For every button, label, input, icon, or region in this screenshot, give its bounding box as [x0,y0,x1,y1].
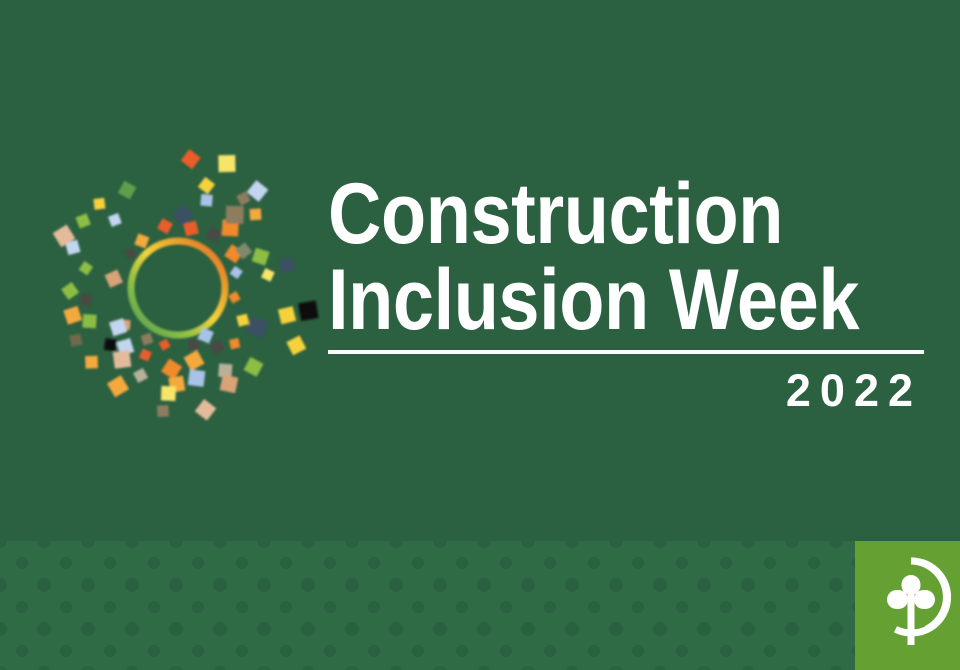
emblem-tile [184,350,205,371]
geometric-lattice-band [0,541,960,670]
emblem-tile [246,316,269,339]
emblem-tile [195,399,217,421]
wordmark-line-construction: Construction [328,174,844,256]
emblem-tile [107,375,129,397]
emblem-tile [118,181,137,200]
emblem-tile [244,357,264,377]
emblem-tile [159,339,171,351]
emblem-tile [63,306,82,325]
emblem-tile [113,350,132,369]
emblem-tile [226,206,244,224]
clover-in-circle-logo [871,557,951,653]
poster-canvas: Construction Inclusion Week 2022 [0,0,960,670]
emblem-tile [252,248,270,266]
emblem-tile [200,194,213,207]
emblem-tile [206,227,222,243]
emblem-tile [85,356,98,369]
emblem-tile [249,208,261,220]
emblem-tile [125,248,136,259]
emblem-ring [131,241,225,335]
emblem-tile [157,405,169,417]
emblem-tile [157,218,173,234]
emblem-tile [76,213,91,228]
wordmark-line-inclusion-week: Inclusion Week [328,260,844,342]
emblem-tile [105,270,123,288]
emblem-tile [104,338,117,351]
emblem-tile [229,338,240,349]
emblem-tile [230,266,243,279]
emblem-tile [236,314,249,327]
emblem-tile [69,334,82,347]
emblem-tile [218,155,235,172]
wordmark-divider-rule [328,350,924,354]
emblem-tile [188,340,198,350]
emblem-tile [79,261,93,275]
emblem-tile [79,293,92,306]
emblem-tile [108,213,122,227]
emblem-tile [161,386,176,401]
emblem-tile [139,348,152,361]
emblem-tile [261,268,275,282]
emblem-tile [141,333,154,346]
radial-mosaic-emblem [30,138,326,434]
emblem-tile [280,258,294,272]
emblem-tile [228,291,241,304]
emblem-tile [298,300,319,321]
emblem-tile [188,369,206,387]
emblem-tile [198,177,215,194]
emblem-tile [278,306,296,324]
emblem-tiles [53,149,319,420]
emblem-tile [82,314,96,328]
wordmark-year: 2022 [328,368,924,413]
emblem-tile [286,335,306,355]
emblem-tile [220,375,239,394]
emblem-tile [209,339,225,355]
emblem-tile [133,368,148,383]
emblem-tile [134,233,149,248]
brand-accent-block [855,541,960,670]
emblem-tile [93,198,105,210]
clover-stem [908,593,915,645]
emblem-tile [247,180,269,202]
emblem-tile [181,149,201,169]
wordmark: Construction Inclusion Week 2022 [328,174,928,413]
lattice-pattern [0,541,960,670]
emblem-tile [61,282,79,300]
